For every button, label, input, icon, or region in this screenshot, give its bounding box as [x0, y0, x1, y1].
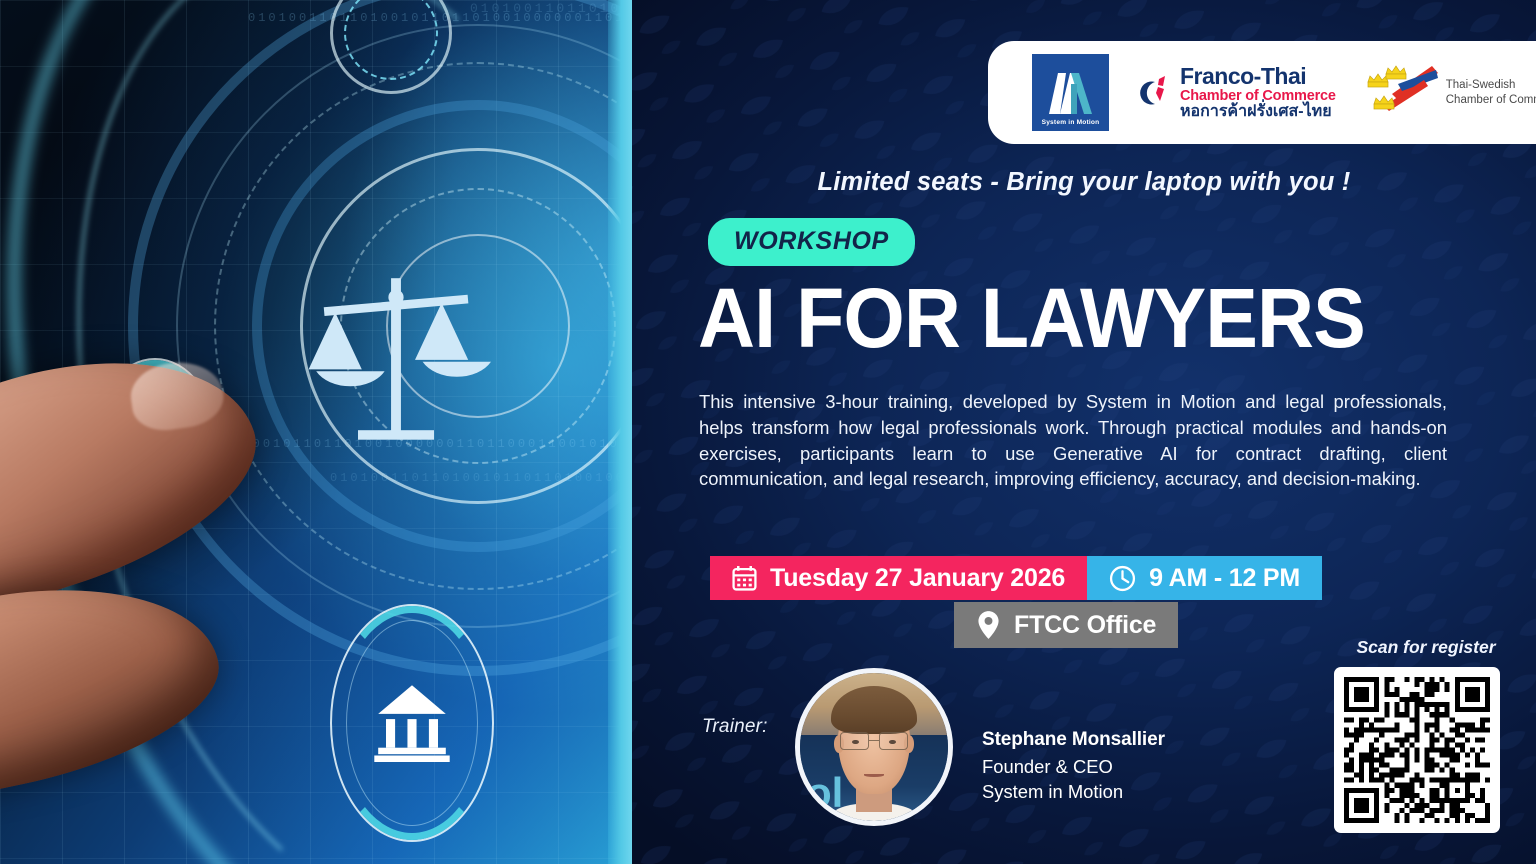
trainer-role: Founder & CEO — [982, 754, 1165, 780]
date-chip: Tuesday 27 January 2026 — [710, 556, 1087, 600]
scales-of-justice-icon — [288, 250, 504, 466]
page-title: AI FOR LAWYERS — [698, 276, 1365, 362]
courthouse-icon — [330, 604, 494, 842]
thai-swedish-line1: Thai-Swedish — [1446, 78, 1536, 93]
photo-cyan-edge — [608, 0, 632, 864]
franco-thai-chamber-logo: Franco-Thai Chamber of Commerce หอการค้า… — [1129, 65, 1336, 121]
limited-seats-notice: Limited seats - Bring your laptop with y… — [632, 168, 1536, 197]
system-in-motion-m-mark — [1046, 70, 1096, 116]
qr-code-image[interactable] — [1344, 677, 1490, 823]
system-in-motion-logo: System in Motion — [1032, 54, 1109, 131]
glasses-lens-left — [840, 732, 869, 750]
location-text: FTCC Office — [1014, 611, 1156, 640]
avatar: ol — [795, 668, 953, 826]
trainer-organization: System in Motion — [982, 779, 1165, 805]
avatar-glasses — [840, 732, 908, 750]
franco-thai-line1: Franco-Thai — [1180, 65, 1336, 88]
event-details-row: Tuesday 27 January 2026 9 AM - 12 PM — [710, 556, 1322, 600]
hero-image-legal-tech: 0101001101101001011011010010000001101100… — [0, 0, 632, 864]
thai-swedish-line2: Chamber of Commerce — [1446, 93, 1536, 108]
thai-swedish-text-block: Thai-Swedish Chamber of Commerce — [1446, 78, 1536, 107]
franco-thai-text-block: Franco-Thai Chamber of Commerce หอการค้า… — [1180, 65, 1336, 121]
trainer-info: Stephane Monsallier Founder & CEO System… — [982, 727, 1165, 805]
clock-icon — [1109, 565, 1136, 592]
calendar-icon — [732, 565, 757, 591]
franco-thai-line3-thai: หอการค้าฝรั่งเศส-ไทย — [1180, 104, 1336, 120]
map-pin-icon — [976, 610, 1001, 640]
content-panel: System in Motion Franco-Thai Chamber of … — [632, 0, 1536, 864]
glasses-bridge — [869, 740, 880, 742]
system-in-motion-label: System in Motion — [1042, 119, 1100, 126]
glasses-lens-right — [879, 732, 908, 750]
time-chip: 9 AM - 12 PM — [1087, 556, 1322, 600]
partner-logo-bar: System in Motion Franco-Thai Chamber of … — [988, 41, 1536, 144]
workshop-badge: WORKSHOP — [708, 218, 915, 266]
location-chip: FTCC Office — [954, 602, 1178, 648]
trainer-label: Trainer: — [702, 716, 768, 738]
thai-swedish-chamber-logo: Thai-Swedish Chamber of Commerce — [1362, 64, 1536, 122]
poster-canvas: 0101001101101001011011010010000001101100… — [0, 0, 1536, 864]
workshop-description: This intensive 3-hour training, develope… — [699, 389, 1447, 492]
trainer-name: Stephane Monsallier — [982, 727, 1165, 754]
qr-code[interactable] — [1334, 667, 1500, 833]
date-text: Tuesday 27 January 2026 — [770, 564, 1065, 593]
franco-thai-line2: Chamber of Commerce — [1180, 89, 1336, 104]
three-crowns-flag-mark — [1362, 64, 1440, 122]
time-text: 9 AM - 12 PM — [1149, 564, 1300, 593]
scan-for-register-label: Scan for register — [1332, 637, 1520, 658]
cci-circle-mark — [1129, 71, 1173, 115]
